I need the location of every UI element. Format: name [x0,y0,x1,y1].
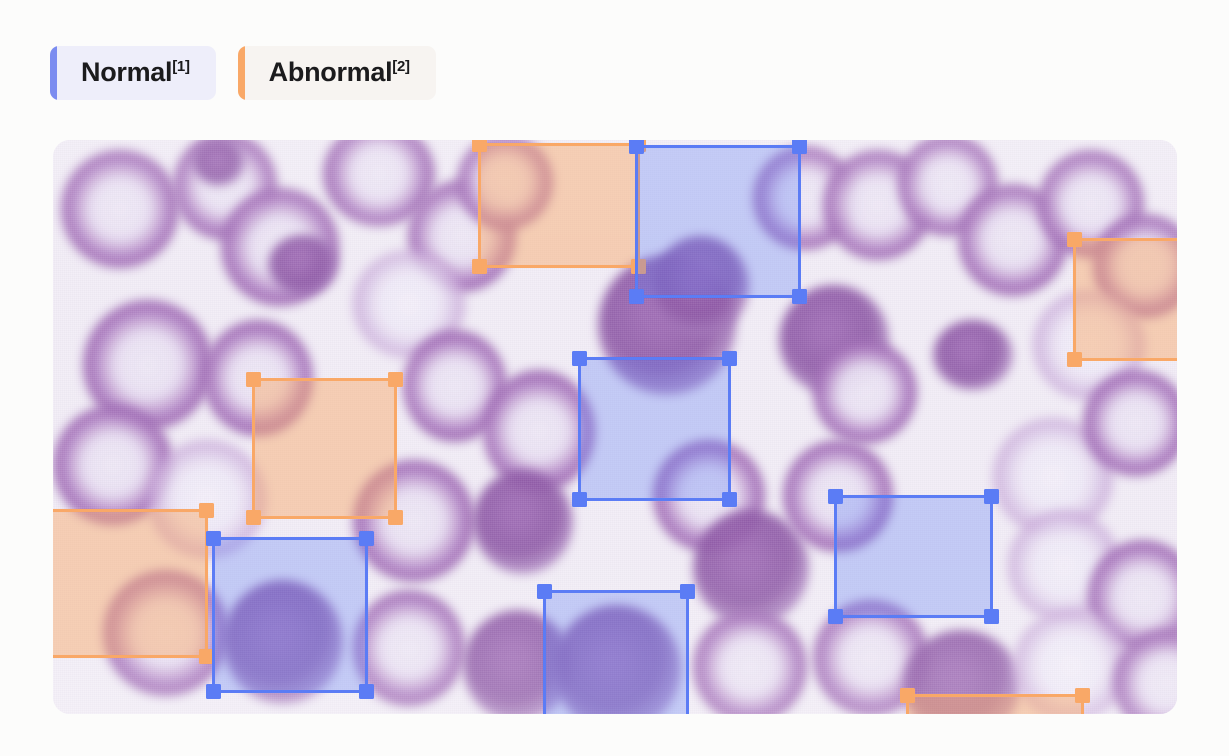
box-normal-5[interactable] [543,590,689,714]
resize-handle-br[interactable] [792,289,807,304]
annotation-viewer: Normal[1]Abnormal[2] [0,0,1229,756]
box-abnormal-5[interactable] [906,694,1084,714]
red-blood-cell [268,235,338,295]
resize-handle-tr[interactable] [199,503,214,518]
box-normal-1[interactable] [635,145,801,298]
resize-handle-br[interactable] [359,684,374,699]
resize-handle-br[interactable] [722,492,737,507]
resize-handle-tr[interactable] [1075,688,1090,703]
resize-handle-tr[interactable] [984,489,999,504]
box-abnormal-1[interactable] [478,143,640,268]
legend-footnote-normal: [1] [172,58,189,75]
resize-handle-bl[interactable] [246,510,261,525]
resize-handle-tl[interactable] [572,351,587,366]
resize-handle-bl[interactable] [629,289,644,304]
legend-label-normal: Normal[1] [57,59,190,86]
resize-handle-tl[interactable] [900,688,915,703]
resize-handle-bl[interactable] [1067,352,1082,367]
legend-chip-abnormal[interactable]: Abnormal[2] [238,46,436,100]
resize-handle-tr[interactable] [388,372,403,387]
resize-handle-tl[interactable] [629,140,644,154]
box-normal-2[interactable] [578,357,731,501]
resize-handle-bl[interactable] [206,684,221,699]
red-blood-cell [193,140,245,186]
red-blood-cell [61,150,179,268]
class-legend: Normal[1]Abnormal[2] [50,46,436,100]
legend-color-swatch-normal [50,46,57,100]
box-abnormal-2[interactable] [1073,238,1177,361]
resize-handle-tl[interactable] [472,140,487,152]
red-blood-cell [933,320,1013,390]
resize-handle-br[interactable] [984,609,999,624]
resize-handle-tl[interactable] [1067,232,1082,247]
box-normal-4[interactable] [212,537,368,693]
resize-handle-bl[interactable] [828,609,843,624]
legend-label-abnormal: Abnormal[2] [245,59,410,86]
resize-handle-br[interactable] [388,510,403,525]
resize-handle-tl[interactable] [537,584,552,599]
box-normal-3[interactable] [834,495,993,618]
red-blood-cell [473,470,573,574]
resize-handle-tr[interactable] [680,584,695,599]
legend-footnote-abnormal: [2] [392,58,409,75]
resize-handle-tl[interactable] [828,489,843,504]
resize-handle-tl[interactable] [246,372,261,387]
red-blood-cell [813,340,917,444]
red-blood-cell [693,610,807,714]
box-abnormal-3[interactable] [252,378,397,519]
resize-handle-bl[interactable] [472,259,487,274]
resize-handle-tl[interactable] [206,531,221,546]
legend-chip-normal[interactable]: Normal[1] [50,46,216,100]
resize-handle-tr[interactable] [792,140,807,154]
legend-color-swatch-abnormal [238,46,245,100]
resize-handle-tr[interactable] [359,531,374,546]
resize-handle-tr[interactable] [722,351,737,366]
box-abnormal-4[interactable] [53,509,208,658]
resize-handle-bl[interactable] [572,492,587,507]
annotated-image-panel[interactable] [53,140,1177,714]
